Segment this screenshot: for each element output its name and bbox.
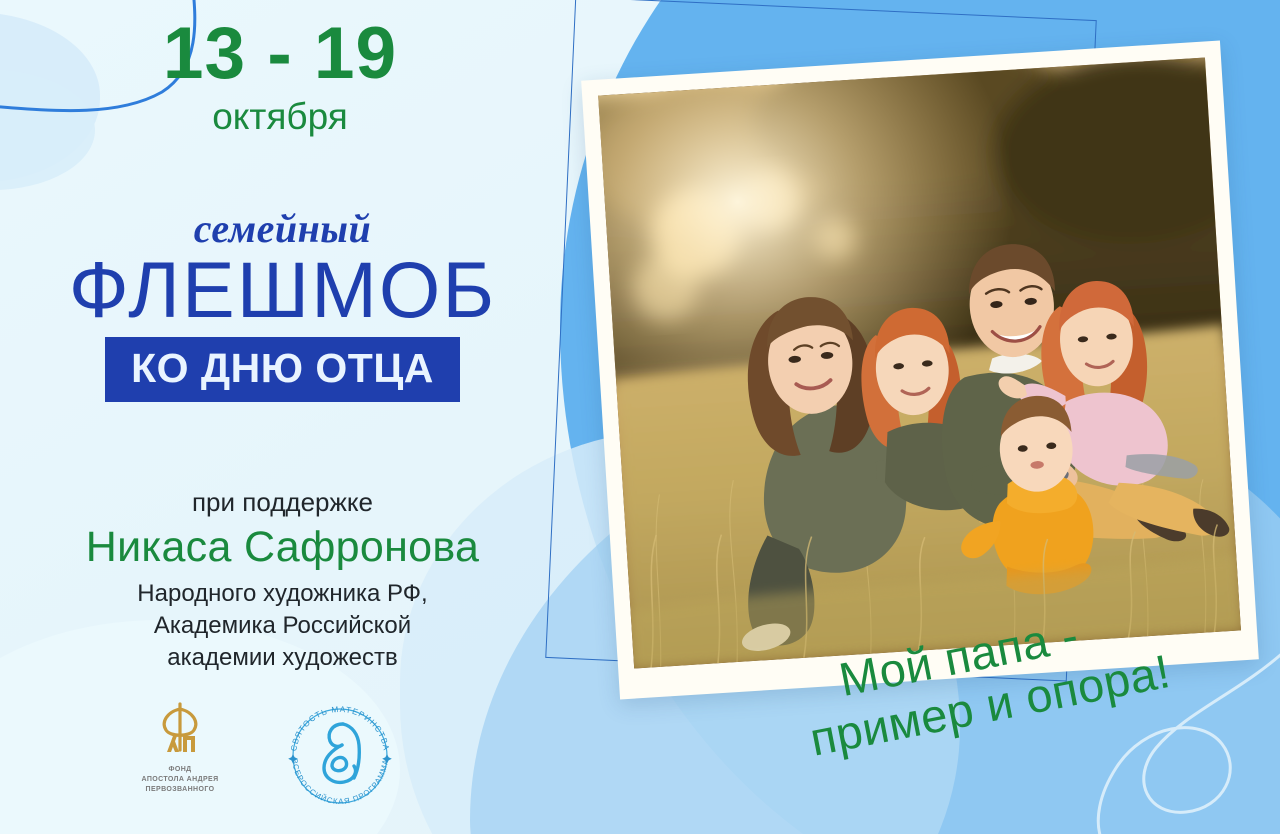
faap-caption-line-2: АПОСТОЛА АНДРЕЯ [120,775,240,785]
page-title: ФЛЕШМОБ [0,250,565,331]
faap-logo-mark [120,700,240,762]
faap-logo: ФОНД АПОСТОЛА АНДРЕЯ ПЕРВОЗВАННОГО [120,700,240,795]
faap-monogram-icon [149,700,211,762]
logo-row: ФОНД АПОСТОЛА АНДРЕЯ ПЕРВОЗВАННОГО СВЯТО… [120,700,450,813]
date-range: 13 - 19 [0,18,560,90]
family-photo [598,57,1241,668]
event-date: 13 - 19 октября [0,18,560,138]
faap-caption-line-1: ФОНД [120,765,240,775]
supporter-credential-line-3: академии художеств [0,642,565,674]
support-section: при поддержке Никаса Сафронова Народного… [0,487,565,673]
supporter-credential-line-2: Академика Российской [0,610,565,642]
support-prefix: при поддержке [0,487,565,518]
supporter-credential-line-1: Народного художника РФ, [0,578,565,610]
decorative-swirl [1090,620,1280,834]
family-photo-illustration [598,57,1241,668]
mother-and-child-icon: СВЯТОСТЬ МАТЕРИНСТВА ВСЕРОССИЙСКАЯ ПРОГР… [280,700,400,808]
date-month: октября [0,96,560,139]
supporter-name: Никаса Сафронова [0,524,565,570]
faap-logo-caption: ФОНД АПОСТОЛА АНДРЕЯ ПЕРВОЗВАННОГО [120,765,240,795]
sanctity-motherhood-logo: СВЯТОСТЬ МАТЕРИНСТВА ВСЕРОССИЙСКАЯ ПРОГР… [280,700,400,813]
title-badge: КО ДНЮ ОТЦА [105,337,460,402]
event-title: семейный ФЛЕШМОБ КО ДНЮ ОТЦА [0,205,565,402]
faap-caption-line-3: ПЕРВОЗВАННОГО [120,785,240,795]
poster-canvas: 13 - 19 октября семейный ФЛЕШМОБ КО ДНЮ … [0,0,1280,834]
supporter-credentials: Народного художника РФ, Академика Россий… [0,578,565,673]
